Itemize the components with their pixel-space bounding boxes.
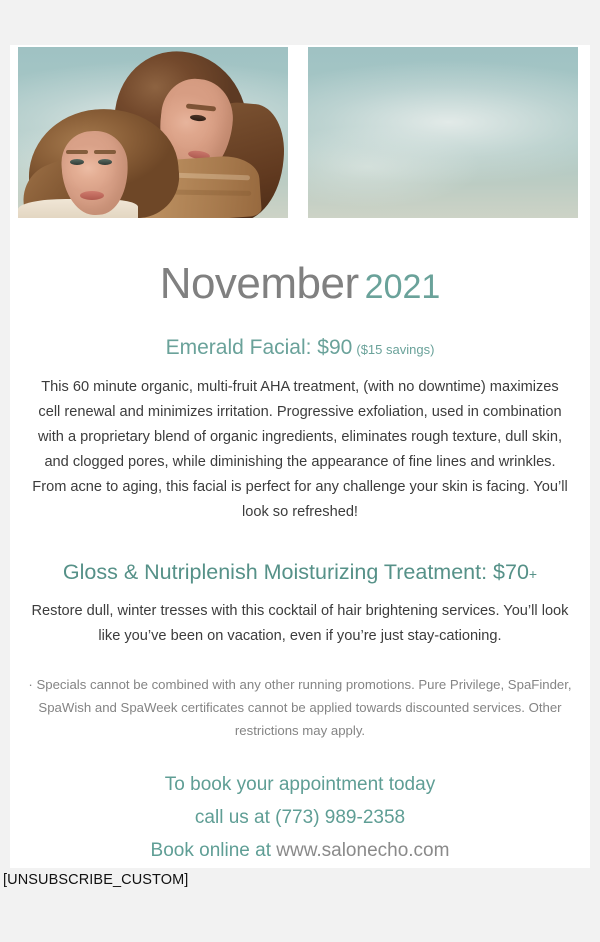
front-model-eye-left [70, 159, 84, 165]
issue-year: 2021 [365, 268, 441, 306]
cta-line-website: Book online at www.salonecho.com [10, 834, 590, 867]
offer-2-price-plus: + [529, 566, 537, 582]
front-model-lips [80, 191, 104, 200]
offer-1-description: This 60 minute organic, multi-fruit AHA … [29, 359, 572, 525]
booking-cta-block: To book your appointment today call us a… [10, 742, 590, 867]
issue-date-heading: November2021 [10, 218, 590, 306]
front-model-brow-left [66, 150, 88, 154]
hero-image-sky [308, 47, 578, 218]
salon-website-link[interactable]: www.salonecho.com [276, 840, 449, 861]
cta-line-phone[interactable]: call us at (773) 989-2358 [10, 801, 590, 834]
cta-line-book-today: To book your appointment today [10, 768, 590, 801]
cta-website-prefix: Book online at [151, 840, 277, 861]
offer-2-title-text: Gloss & Nutriplenish Moisturizing Treatm… [63, 560, 529, 584]
models-illustration [18, 47, 288, 218]
sky-backdrop [308, 47, 578, 218]
disclaimer-text: · Specials cannot be combined with any o… [22, 649, 578, 742]
issue-month: November [160, 259, 359, 308]
email-newsletter-page: November2021 Emerald Facial: $90($15 sav… [0, 0, 600, 942]
front-model-eye-right [98, 159, 112, 165]
offer-1-title: Emerald Facial: $90($15 savings) [10, 306, 590, 359]
newsletter-content: November2021 Emerald Facial: $90($15 sav… [10, 218, 590, 867]
hero-image-row [18, 47, 582, 218]
offer-1-savings-badge: ($15 savings) [356, 342, 434, 357]
offer-1-title-text: Emerald Facial: $90 [166, 336, 353, 359]
offer-2-title: Gloss & Nutriplenish Moisturizing Treatm… [10, 525, 590, 585]
hero-image-models [18, 47, 288, 218]
front-model-brow-right [94, 150, 116, 154]
offer-2-description: Restore dull, winter tresses with this c… [22, 585, 578, 649]
email-body-card: November2021 Emerald Facial: $90($15 sav… [10, 45, 590, 868]
unsubscribe-link[interactable]: [UNSUBSCRIBE_CUSTOM] [3, 871, 188, 889]
